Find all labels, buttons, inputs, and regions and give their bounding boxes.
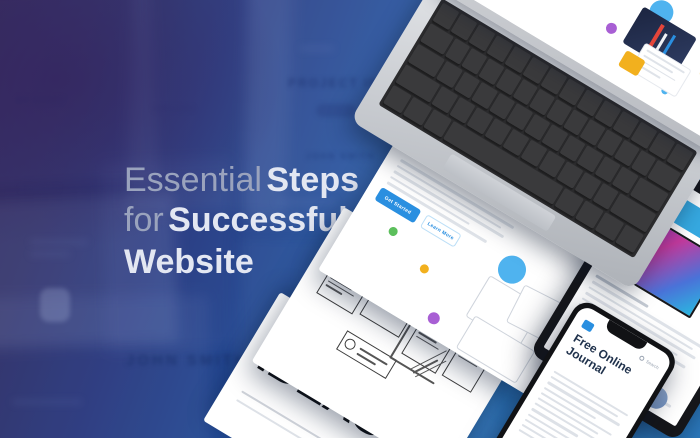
phone-search-control[interactable]: Search [638, 355, 660, 371]
headline-word-successful: Successful [168, 201, 348, 239]
banner-stage: PROJECT IN MIND? JOHN SMITH JOHN SMITH J… [0, 0, 700, 438]
site-nav[interactable] [688, 0, 700, 23]
decor-dot-green [387, 225, 399, 237]
search-icon [638, 355, 645, 362]
decor-dot-purple [426, 310, 442, 326]
wireframe-footer-box [336, 330, 397, 379]
headline-word-website: Website [124, 243, 254, 281]
site-logo-icon [581, 319, 595, 332]
phone-search-label: Search [645, 359, 660, 371]
decor-dot-yellow [418, 263, 430, 275]
decor-dot-purple [604, 21, 619, 36]
headline-word-essential: Essential [124, 161, 262, 199]
headline-word-steps: Steps [266, 161, 359, 199]
headline-word-for: for [124, 201, 164, 239]
headline-line-1: Essential Steps [124, 160, 404, 200]
